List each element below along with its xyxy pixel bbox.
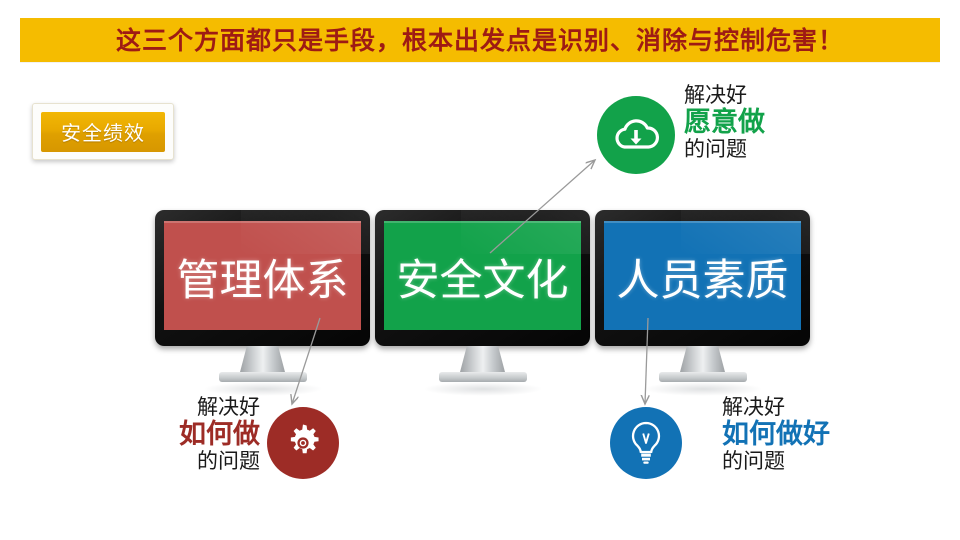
safety-performance-badge-label: 安全绩效 [61, 117, 145, 146]
callout-gear-line2: 如何做 [138, 420, 260, 450]
monitor-stand-base [439, 372, 527, 382]
lightbulb-icon[interactable] [610, 407, 682, 479]
callout-cloud-line1: 解决好 [684, 84, 765, 108]
title-banner-text: 这三个方面都只是手段，根本出发点是识别、消除与控制危害！ [116, 28, 844, 53]
slide-canvas: 这三个方面都只是手段，根本出发点是识别、消除与控制危害！ 安全绩效 管理体系 安… [0, 0, 960, 540]
monitor-safety-culture[interactable]: 安全文化 [375, 210, 590, 346]
safety-performance-badge: 安全绩效 [32, 103, 174, 160]
monitor-stand-neck [680, 346, 726, 374]
callout-gear-line3: 的问题 [138, 450, 260, 474]
callout-gear-line1: 解决好 [138, 396, 260, 420]
safety-performance-badge-inner: 安全绩效 [41, 112, 165, 152]
title-banner: 这三个方面都只是手段，根本出发点是识别、消除与控制危害！ [20, 18, 940, 62]
callout-cloud-line3: 的问题 [684, 138, 765, 162]
callout-cloud-line2: 愿意做 [684, 108, 765, 138]
monitor-screen: 安全文化 [384, 221, 581, 330]
monitor-reflection [643, 382, 763, 396]
callout-gear-text: 解决好 如何做 的问题 [138, 396, 260, 473]
monitor-screen-label: 安全文化 [397, 246, 569, 308]
monitor-screen-label: 人员素质 [617, 246, 789, 308]
cloud-download-icon[interactable] [597, 96, 675, 174]
monitor-bezel: 安全文化 [375, 210, 590, 346]
monitor-personnel-quality[interactable]: 人员素质 [595, 210, 810, 346]
monitor-stand-neck [460, 346, 506, 374]
callout-bulb-text: 解决好 如何做好 的问题 [722, 396, 830, 473]
monitor-screen: 人员素质 [604, 221, 801, 330]
monitor-bezel: 管理体系 [155, 210, 370, 346]
monitor-stand-base [219, 372, 307, 382]
monitor-management-system[interactable]: 管理体系 [155, 210, 370, 346]
monitor-stand-base [659, 372, 747, 382]
monitor-reflection [203, 382, 323, 396]
callout-bulb-line3: 的问题 [722, 450, 830, 474]
monitor-stand-neck [240, 346, 286, 374]
callout-bulb-line2: 如何做好 [722, 420, 830, 450]
monitor-reflection [423, 382, 543, 396]
callout-bulb-line1: 解决好 [722, 396, 830, 420]
monitor-bezel: 人员素质 [595, 210, 810, 346]
callout-cloud-text: 解决好 愿意做 的问题 [684, 84, 765, 161]
monitor-screen-label: 管理体系 [177, 246, 349, 308]
gear-icon[interactable] [267, 407, 339, 479]
monitor-screen: 管理体系 [164, 221, 361, 330]
